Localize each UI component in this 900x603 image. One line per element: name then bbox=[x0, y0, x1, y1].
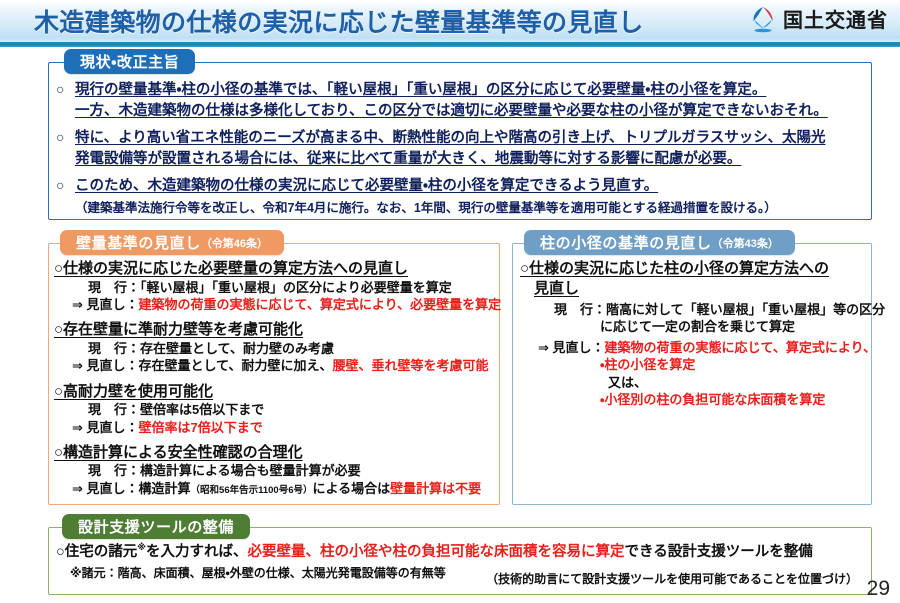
design-tool-panel: 設計支援ツールの整備 ○住宅の諸元※を入力すれば、必要壁量、柱の小径や柱の負担可… bbox=[48, 527, 872, 595]
wall-item-1: ○仕様の実況に応じた必要壁量の算定方法への見直し 現 行：「軽い屋根」「重い屋根… bbox=[54, 259, 494, 313]
column-head-line-1: ○仕様の実況に応じた柱の小径の算定方法への bbox=[520, 259, 866, 279]
overview-tab-label: 現状・改正主旨 bbox=[80, 51, 179, 72]
overview-panel: 現状・改正主旨 ○ 現行の壁量基準・柱の小径の基準では、「軽い屋根」「重い屋根」… bbox=[48, 62, 872, 220]
column-revision-line-3: ・小径別の柱の負担可能な床面積を算定 bbox=[520, 391, 866, 408]
column-current-line-1: 現 行：階高に対して「軽い屋根」「重い屋根」等の区分 bbox=[520, 301, 866, 318]
slide-header: 木造建築物の仕様の実況に応じた壁量基準等の見直し 国土交通省 bbox=[0, 0, 900, 46]
overview-panel-body: ○ 現行の壁量基準・柱の小径の基準では、「軽い屋根」「重い屋根」の区分に応じて必… bbox=[48, 62, 872, 220]
wall-tab-label: 壁量基準の見直し bbox=[76, 232, 201, 253]
overview-bullet-3-text: このため、木造建築物の仕様の実況に応じて必要壁量・柱の小径を算定できるよう見直す… bbox=[75, 176, 862, 217]
wall-item-2: ○存在壁量に準耐力壁等を考慮可能化 現 行：存在壁量として、耐力壁のみ考慮 ⇒ … bbox=[54, 320, 494, 374]
overview-bullet-3: ○ このため、木造建築物の仕様の実況に応じて必要壁量・柱の小径を算定できるよう見… bbox=[56, 176, 862, 217]
column-revision-line-2: ・柱の小径を算定 bbox=[520, 356, 866, 373]
wall-standard-panel: 壁量基準の見直し（令第46条） ○仕様の実況に応じた必要壁量の算定方法への見直し… bbox=[48, 243, 500, 505]
wall-item-3-current: 現 行：壁倍率は5倍以下まで bbox=[54, 401, 494, 418]
wall-tab-sublabel: （令第46条） bbox=[201, 235, 268, 251]
ministry-brand: 国土交通省 bbox=[750, 4, 888, 33]
wall-item-3: ○高耐力壁を使用可能化 現 行：壁倍率は5倍以下まで ⇒ 見直し：壁倍率は7倍以… bbox=[54, 382, 494, 436]
overview-bullet-3-line-1: このため、木造建築物の仕様の実況に応じて必要壁量・柱の小径を算定できるよう見直す… bbox=[75, 178, 658, 194]
wall-item-2-revision: ⇒ 見直し：存在壁量として、耐力壁に加え、腰壁、垂れ壁等を考慮可能 bbox=[54, 357, 494, 374]
header-divider bbox=[0, 42, 900, 47]
overview-bullet-1-text: 現行の壁量基準・柱の小径の基準では、「軽い屋根」「重い屋根」の区分に応じて必要壁… bbox=[75, 80, 862, 121]
overview-bullet-2: ○ 特に、より高い省エネ性能のニーズが高まる中、断熱性能の向上や階高の引き上げ、… bbox=[56, 128, 862, 169]
column-tab-label: 柱の小径の基準の見直し bbox=[540, 232, 712, 253]
bullet-marker: ○ bbox=[56, 176, 75, 196]
wall-item-4-head: ○構造計算による安全性確認の合理化 bbox=[54, 443, 494, 463]
wall-item-3-revision: ⇒ 見直し：壁倍率は7倍以下まで bbox=[54, 419, 494, 436]
tool-panel-tab: 設計支援ツールの整備 bbox=[62, 514, 250, 539]
wall-item-1-current: 現 行：「軽い屋根」「重い屋根」の区分により必要壁量を算定 bbox=[54, 279, 494, 296]
wall-item-1-revision: ⇒ 見直し：建築物の荷重の実態に応じて、算定式により、必要壁量を算定 bbox=[54, 296, 494, 313]
overview-bullet-2-text: 特に、より高い省エネ性能のニーズが高まる中、断熱性能の向上や階高の引き上げ、トリ… bbox=[75, 128, 862, 169]
tool-tab-label: 設計支援ツールの整備 bbox=[78, 516, 234, 537]
wall-item-3-head: ○高耐力壁を使用可能化 bbox=[54, 382, 494, 402]
column-revision-line-1: ⇒ 見直し：建築物の荷重の実態に応じて、算定式により、 bbox=[520, 339, 866, 356]
column-current-line-2: に応じて一定の割合を乗じて算定 bbox=[520, 318, 866, 335]
overview-bullet-1: ○ 現行の壁量基準・柱の小径の基準では、「軽い屋根」「重い屋根」の区分に応じて必… bbox=[56, 80, 862, 121]
wall-item-4-current: 現 行：構造計算による場合も壁量計算が必要 bbox=[54, 462, 494, 479]
wall-item-4-revision: ⇒ 見直し：構造計算（昭和56年告示1100号6号）による場合は壁量計算は不要 bbox=[54, 480, 494, 498]
wall-item-1-head: ○仕様の実況に応じた必要壁量の算定方法への見直し bbox=[54, 259, 494, 279]
page-title: 木造建築物の仕様の実況に応じた壁量基準等の見直し bbox=[34, 3, 644, 39]
wall-panel-body: ○仕様の実況に応じた必要壁量の算定方法への見直し 現 行：「軽い屋根」「重い屋根… bbox=[48, 243, 500, 505]
overview-panel-tab: 現状・改正主旨 bbox=[64, 49, 195, 74]
tool-main-line: ○住宅の諸元※を入力すれば、必要壁量、柱の小径や柱の負担可能な床面積を容易に算定… bbox=[56, 542, 864, 562]
column-revision-mid: 又は、 bbox=[520, 374, 866, 391]
overview-bullet-1-line-2: 一方、木造建築物の仕様は多様化しており、この区分では適切に必要壁量や必要な柱の小… bbox=[75, 103, 828, 119]
bullet-marker: ○ bbox=[56, 128, 75, 148]
overview-bullet-2-line-2: 発電設備等が設置される場合には、従来に比べて重量が大きく、地震動等に対する影響に… bbox=[75, 151, 741, 167]
wall-item-4: ○構造計算による安全性確認の合理化 現 行：構造計算による場合も壁量計算が必要 … bbox=[54, 443, 494, 498]
overview-bullet-1-line-1: 現行の壁量基準・柱の小径の基準では、「軽い屋根」「重い屋根」の区分に応じて必要壁… bbox=[75, 82, 766, 98]
wall-item-2-current: 現 行：存在壁量として、耐力壁のみ考慮 bbox=[54, 340, 494, 357]
bullet-marker: ○ bbox=[56, 80, 75, 100]
column-panel-tab: 柱の小径の基準の見直し（令第43条） bbox=[524, 230, 795, 255]
wall-item-2-head: ○存在壁量に準耐力壁等を考慮可能化 bbox=[54, 320, 494, 340]
overview-bullet-2-line-1: 特に、より高い省エネ性能のニーズが高まる中、断熱性能の向上や階高の引き上げ、トリ… bbox=[75, 130, 826, 146]
mlit-swirl-logo-icon bbox=[750, 5, 776, 33]
overview-bullet-3-note: （建築基準法施行令等を改正し、令和7年4月に施行。なお、1年間、現行の壁量基準等… bbox=[75, 200, 862, 218]
tool-note-marker: ※ bbox=[137, 542, 146, 552]
column-panel-body: ○仕様の実況に応じた柱の小径の算定方法への 見直し 現 行：階高に対して「軽い屋… bbox=[512, 243, 872, 505]
tool-note: ※諸元：階高、床面積、屋根・外壁の仕様、太陽光発電設備等の有無等 bbox=[56, 565, 864, 581]
column-diameter-panel: 柱の小径の基準の見直し（令第43条） ○仕様の実況に応じた柱の小径の算定方法への… bbox=[512, 243, 872, 505]
wall-panel-tab: 壁量基準の見直し（令第46条） bbox=[60, 230, 284, 255]
column-head-line-2: 見直し bbox=[520, 279, 866, 299]
column-tab-sublabel: （令第43条） bbox=[712, 235, 779, 251]
ministry-name: 国土交通省 bbox=[783, 4, 888, 33]
